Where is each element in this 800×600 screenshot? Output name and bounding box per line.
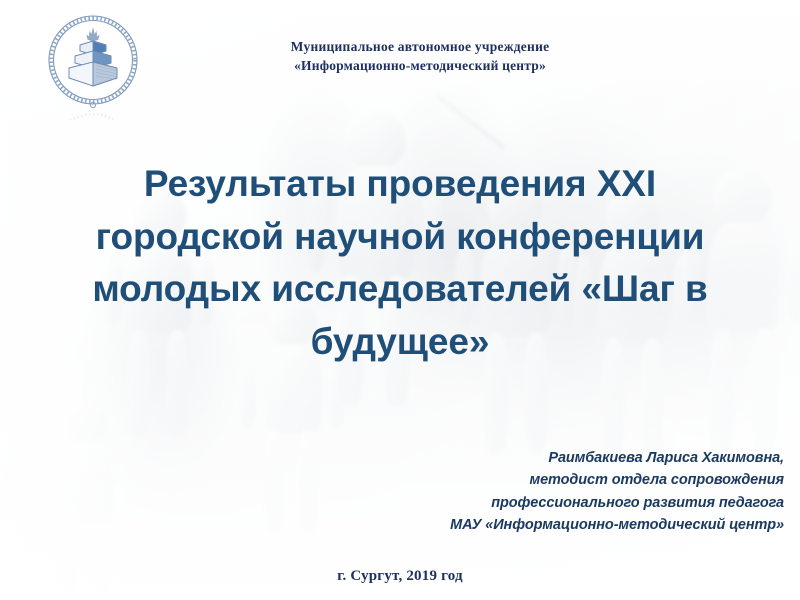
author-organization: МАУ «Информационно-методический центр» bbox=[364, 514, 784, 536]
org-header-line-1: Муниципальное автономное учреждение bbox=[200, 37, 640, 56]
title-line-2: городской научной конференции bbox=[60, 211, 740, 264]
title-line-1: Результаты проведения XXI bbox=[60, 158, 740, 211]
org-header-line-2: «Информационно-методический центр» bbox=[200, 56, 640, 75]
page-title: Результаты проведения XXI городской науч… bbox=[60, 158, 740, 368]
imc-emblem-icon bbox=[44, 10, 142, 120]
author-position-line-2: профессионального развития педагога bbox=[364, 492, 784, 514]
organization-header: Муниципальное автономное учреждение «Инф… bbox=[200, 37, 640, 75]
title-line-3: молодых исследователей «Шаг в bbox=[60, 263, 740, 316]
title-line-4: будущее» bbox=[60, 316, 740, 369]
author-position-line-1: методист отдела сопровождения bbox=[364, 469, 784, 491]
slide-footer: г. Сургут, 2019 год bbox=[0, 568, 800, 585]
title-slide: Муниципальное автономное учреждение «Инф… bbox=[0, 0, 800, 600]
organization-logo bbox=[44, 10, 142, 120]
author-block: Раимбакиева Лариса Хакимовна, методист о… bbox=[364, 447, 784, 537]
author-name: Раимбакиева Лариса Хакимовна, bbox=[364, 447, 784, 469]
